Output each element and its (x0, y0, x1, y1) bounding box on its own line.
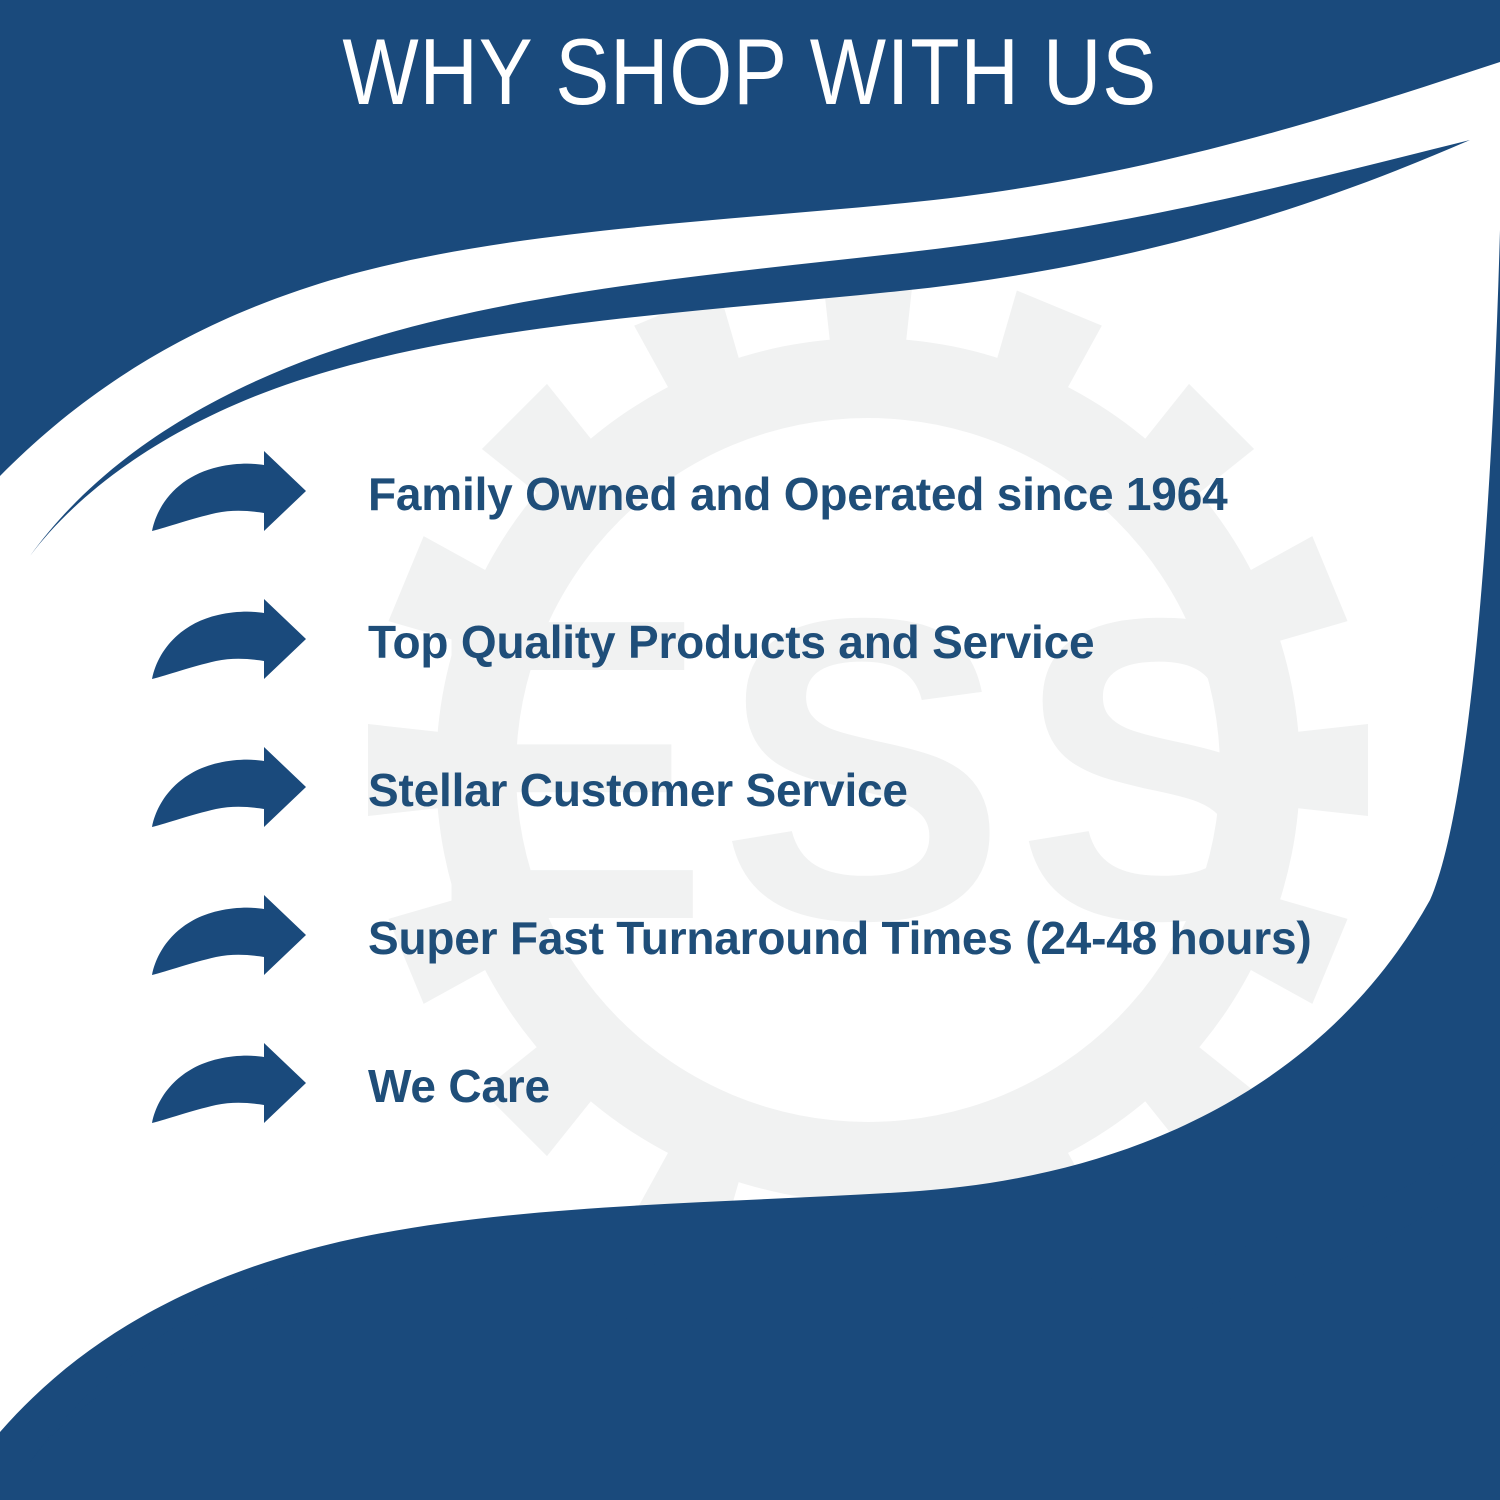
benefit-item: Super Fast Turnaround Times (24-48 hours… (0, 864, 1500, 1012)
curved-arrow-right-icon (148, 747, 306, 833)
benefit-label: We Care (368, 1062, 550, 1110)
curved-arrow-right-icon (148, 599, 306, 685)
benefit-label: Super Fast Turnaround Times (24-48 hours… (368, 914, 1312, 962)
promo-graphic: ESS WHY SHOP WITH US Family Owned and Op… (0, 0, 1500, 1500)
benefit-item: Top Quality Products and Service (0, 568, 1500, 716)
curved-arrow-right-icon (148, 451, 306, 537)
curved-arrow-right-icon (148, 1043, 306, 1129)
benefits-list: Family Owned and Operated since 1964 Top… (0, 420, 1500, 1160)
benefit-item: Stellar Customer Service (0, 716, 1500, 864)
benefit-label: Top Quality Products and Service (368, 618, 1094, 666)
benefit-item: Family Owned and Operated since 1964 (0, 420, 1500, 568)
benefit-label: Stellar Customer Service (368, 766, 908, 814)
benefit-item: We Care (0, 1012, 1500, 1160)
benefit-label: Family Owned and Operated since 1964 (368, 470, 1227, 518)
curved-arrow-right-icon (148, 895, 306, 981)
